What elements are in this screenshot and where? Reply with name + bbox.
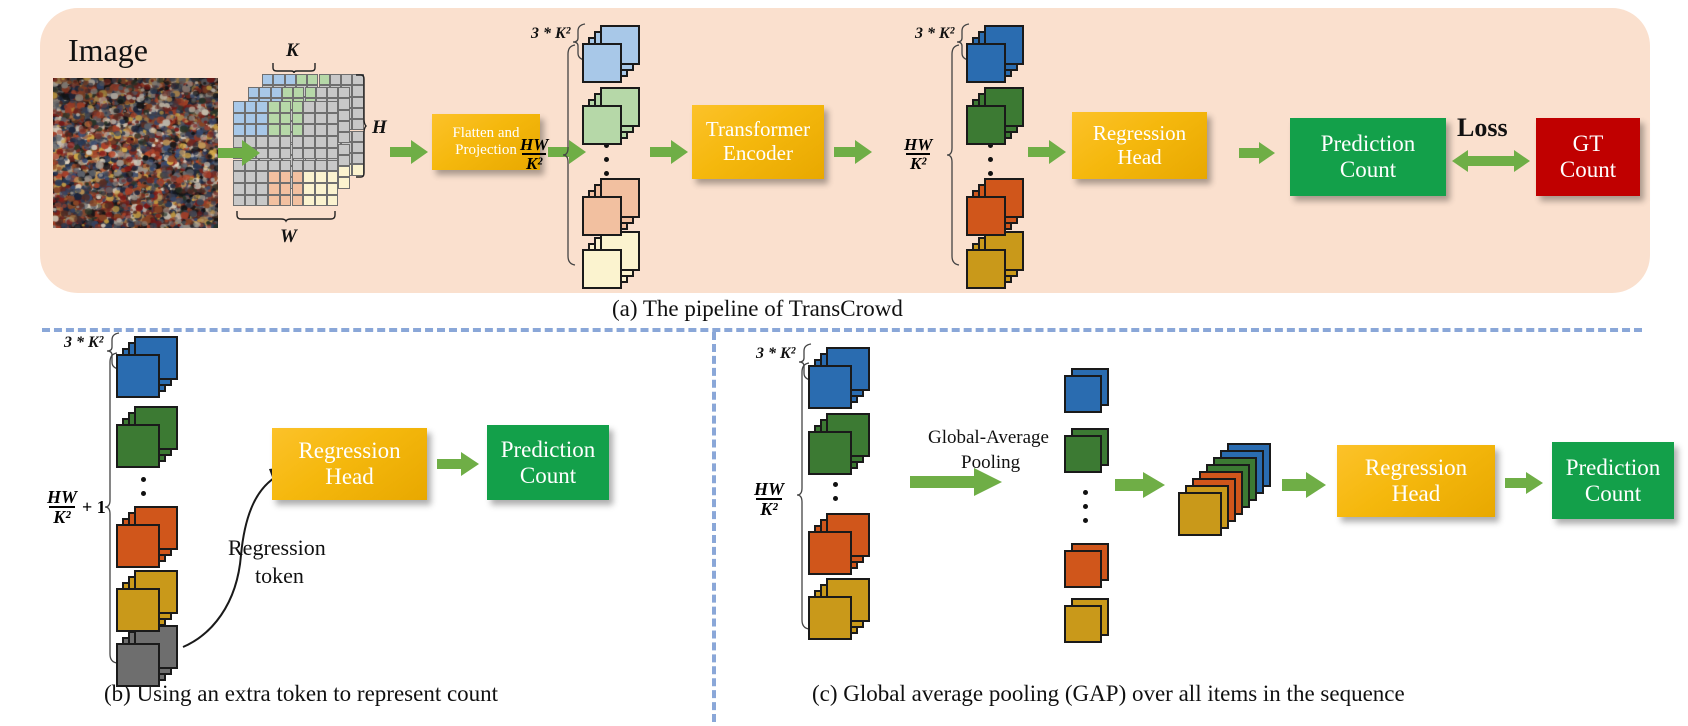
divider-horizontal — [42, 328, 1642, 332]
box-head-b-line1: Regression — [298, 438, 400, 464]
panel-c-pooled-1 — [1064, 368, 1109, 413]
arrow-concat-to-head — [1282, 472, 1326, 498]
divider-vertical — [712, 332, 716, 722]
box-head-b-line2: Head — [325, 464, 374, 490]
box-regression-head-b[interactable]: Regression Head — [272, 428, 427, 500]
token-stack-out-4 — [966, 231, 1024, 289]
panel-c-pooled-2 — [1064, 428, 1109, 473]
token-stack-in-3 — [582, 178, 640, 236]
h-brace — [355, 74, 367, 178]
tokens-in-count-den: K² — [522, 153, 546, 172]
arrow-tokens-to-encoder — [650, 140, 688, 164]
arrow-pooled-to-concat — [1115, 472, 1165, 498]
box-regression-head-c2[interactable]: Regression Head — [1337, 445, 1495, 517]
box-pred-a-line2: Count — [1340, 157, 1396, 183]
panel-c-count-fraction: HW K² — [752, 480, 786, 519]
panel-b-token-stack-3 — [116, 506, 178, 568]
box-transformer-encoder[interactable]: Transformer Encoder — [692, 105, 824, 179]
tokens-in-depth-label: 3 * K² — [531, 25, 570, 43]
panel-c-depth-label: 3 * K² — [756, 345, 795, 363]
arrow-loss-double — [1452, 149, 1530, 173]
token-stack-out-3 — [966, 178, 1024, 236]
arrow-encoder-to-tokens-out — [834, 140, 872, 164]
panel-c-pooled-3 — [1064, 543, 1109, 588]
box-gt-line1: GT — [1573, 131, 1604, 157]
box-pred-b-line2: Count — [520, 463, 576, 489]
arrow-head-to-prediction-a — [1239, 142, 1275, 164]
loss-label: Loss — [1457, 113, 1508, 143]
arrow-gap — [910, 468, 1002, 496]
panel-c-pooled-4 — [1064, 598, 1109, 643]
box-prediction-count-b[interactable]: Prediction Count — [487, 425, 609, 500]
arrow-head-to-prediction-b — [437, 452, 479, 476]
box-pred-c-line2: Count — [1585, 481, 1641, 507]
panel-b-token-stack-4 — [116, 570, 178, 632]
tokens-out-count-den: K² — [906, 153, 930, 172]
caption-panel-b: (b) Using an extra token to represent co… — [104, 681, 498, 707]
panel-c-count-num: HW — [752, 480, 786, 498]
tokens-out-count-num: HW — [902, 136, 934, 153]
tokens-in-count-brace — [562, 44, 576, 266]
crowd-image — [53, 78, 218, 228]
panel-b-token-stack-1 — [116, 336, 178, 398]
box-head-a-line1: Regression — [1093, 122, 1186, 146]
box-gt-line2: Count — [1560, 157, 1616, 183]
box-gt-count[interactable]: GT Count — [1536, 118, 1640, 196]
box-pred-c-line1: Prediction — [1566, 455, 1661, 481]
token-stack-in-4 — [582, 231, 640, 289]
box-regression-head-a[interactable]: Regression Head — [1072, 112, 1207, 179]
arrow-tokens-out-to-head — [1028, 140, 1066, 164]
arrow-image-to-patches — [218, 140, 260, 166]
panel-b-count-plus: + 1 — [79, 497, 106, 518]
box-flatten-line1: Flatten and — [452, 125, 519, 142]
dim-k-label: K — [286, 40, 299, 62]
panel-b-count-num: HW — [45, 488, 79, 506]
panel-b-token-stack-2 — [116, 406, 178, 468]
panel-b-count-den: K² — [49, 506, 74, 526]
panel-c-pooled-ellipsis — [1083, 490, 1088, 532]
panel-c-token-stack-1 — [808, 347, 870, 409]
box-head-c-line2: Head — [1392, 481, 1441, 507]
gap-label-line1: Global-Average — [928, 427, 1049, 449]
regression-token-label-line2: token — [255, 563, 304, 589]
dim-w-label: W — [280, 226, 297, 248]
box-pred-b-line1: Prediction — [501, 437, 596, 463]
token-stack-in-2 — [582, 87, 640, 145]
panel-c-concat-stack — [1178, 443, 1271, 536]
k-brace — [272, 62, 316, 74]
box-encoder-line1: Transformer — [706, 118, 810, 142]
arrow-patches-to-flatten — [390, 140, 428, 164]
panel-b-count-fraction: HW K² + 1 — [45, 488, 106, 527]
tokens-out-count-fraction: HW K² — [902, 136, 934, 173]
image-label: Image — [68, 32, 148, 69]
caption-panel-c: (c) Global average pooling (GAP) over al… — [812, 681, 1405, 707]
panel-c-count-den: K² — [756, 498, 781, 518]
box-prediction-count-c[interactable]: Prediction Count — [1552, 442, 1674, 519]
token-stack-out-1 — [966, 25, 1024, 83]
box-head-a-line2: Head — [1117, 146, 1161, 170]
tokens-out-depth-label: 3 * K² — [915, 25, 954, 43]
arrow-head-to-prediction-c — [1505, 472, 1543, 494]
token-stack-in-1 — [582, 25, 640, 83]
panel-b-token-ellipsis — [141, 463, 146, 505]
box-encoder-line2: Encoder — [723, 142, 793, 166]
panel-c-token-stack-4 — [808, 578, 870, 640]
panel-c-token-stack-2 — [808, 413, 870, 475]
w-brace — [236, 210, 336, 222]
box-head-c-line1: Regression — [1365, 455, 1467, 481]
token-stack-out-2 — [966, 87, 1024, 145]
panel-b-depth-label: 3 * K² — [64, 334, 103, 352]
panel-c-token-stack-3 — [808, 513, 870, 575]
tokens-in-count-fraction: HW K² — [518, 136, 550, 173]
tokens-in-count-num: HW — [518, 136, 550, 153]
dim-h-label: H — [372, 117, 387, 139]
caption-panel-a: (a) The pipeline of TransCrowd — [612, 296, 903, 322]
panel-b-token-stack-regression — [116, 625, 178, 687]
box-pred-a-line1: Prediction — [1321, 131, 1416, 157]
tokens-out-count-brace — [946, 44, 960, 266]
figure-canvas: Image K H W — [0, 0, 1688, 726]
regression-token-label-line1: Regression — [228, 535, 326, 561]
box-flatten-line2: Projection — [455, 142, 517, 159]
box-prediction-count-a[interactable]: Prediction Count — [1290, 118, 1446, 196]
